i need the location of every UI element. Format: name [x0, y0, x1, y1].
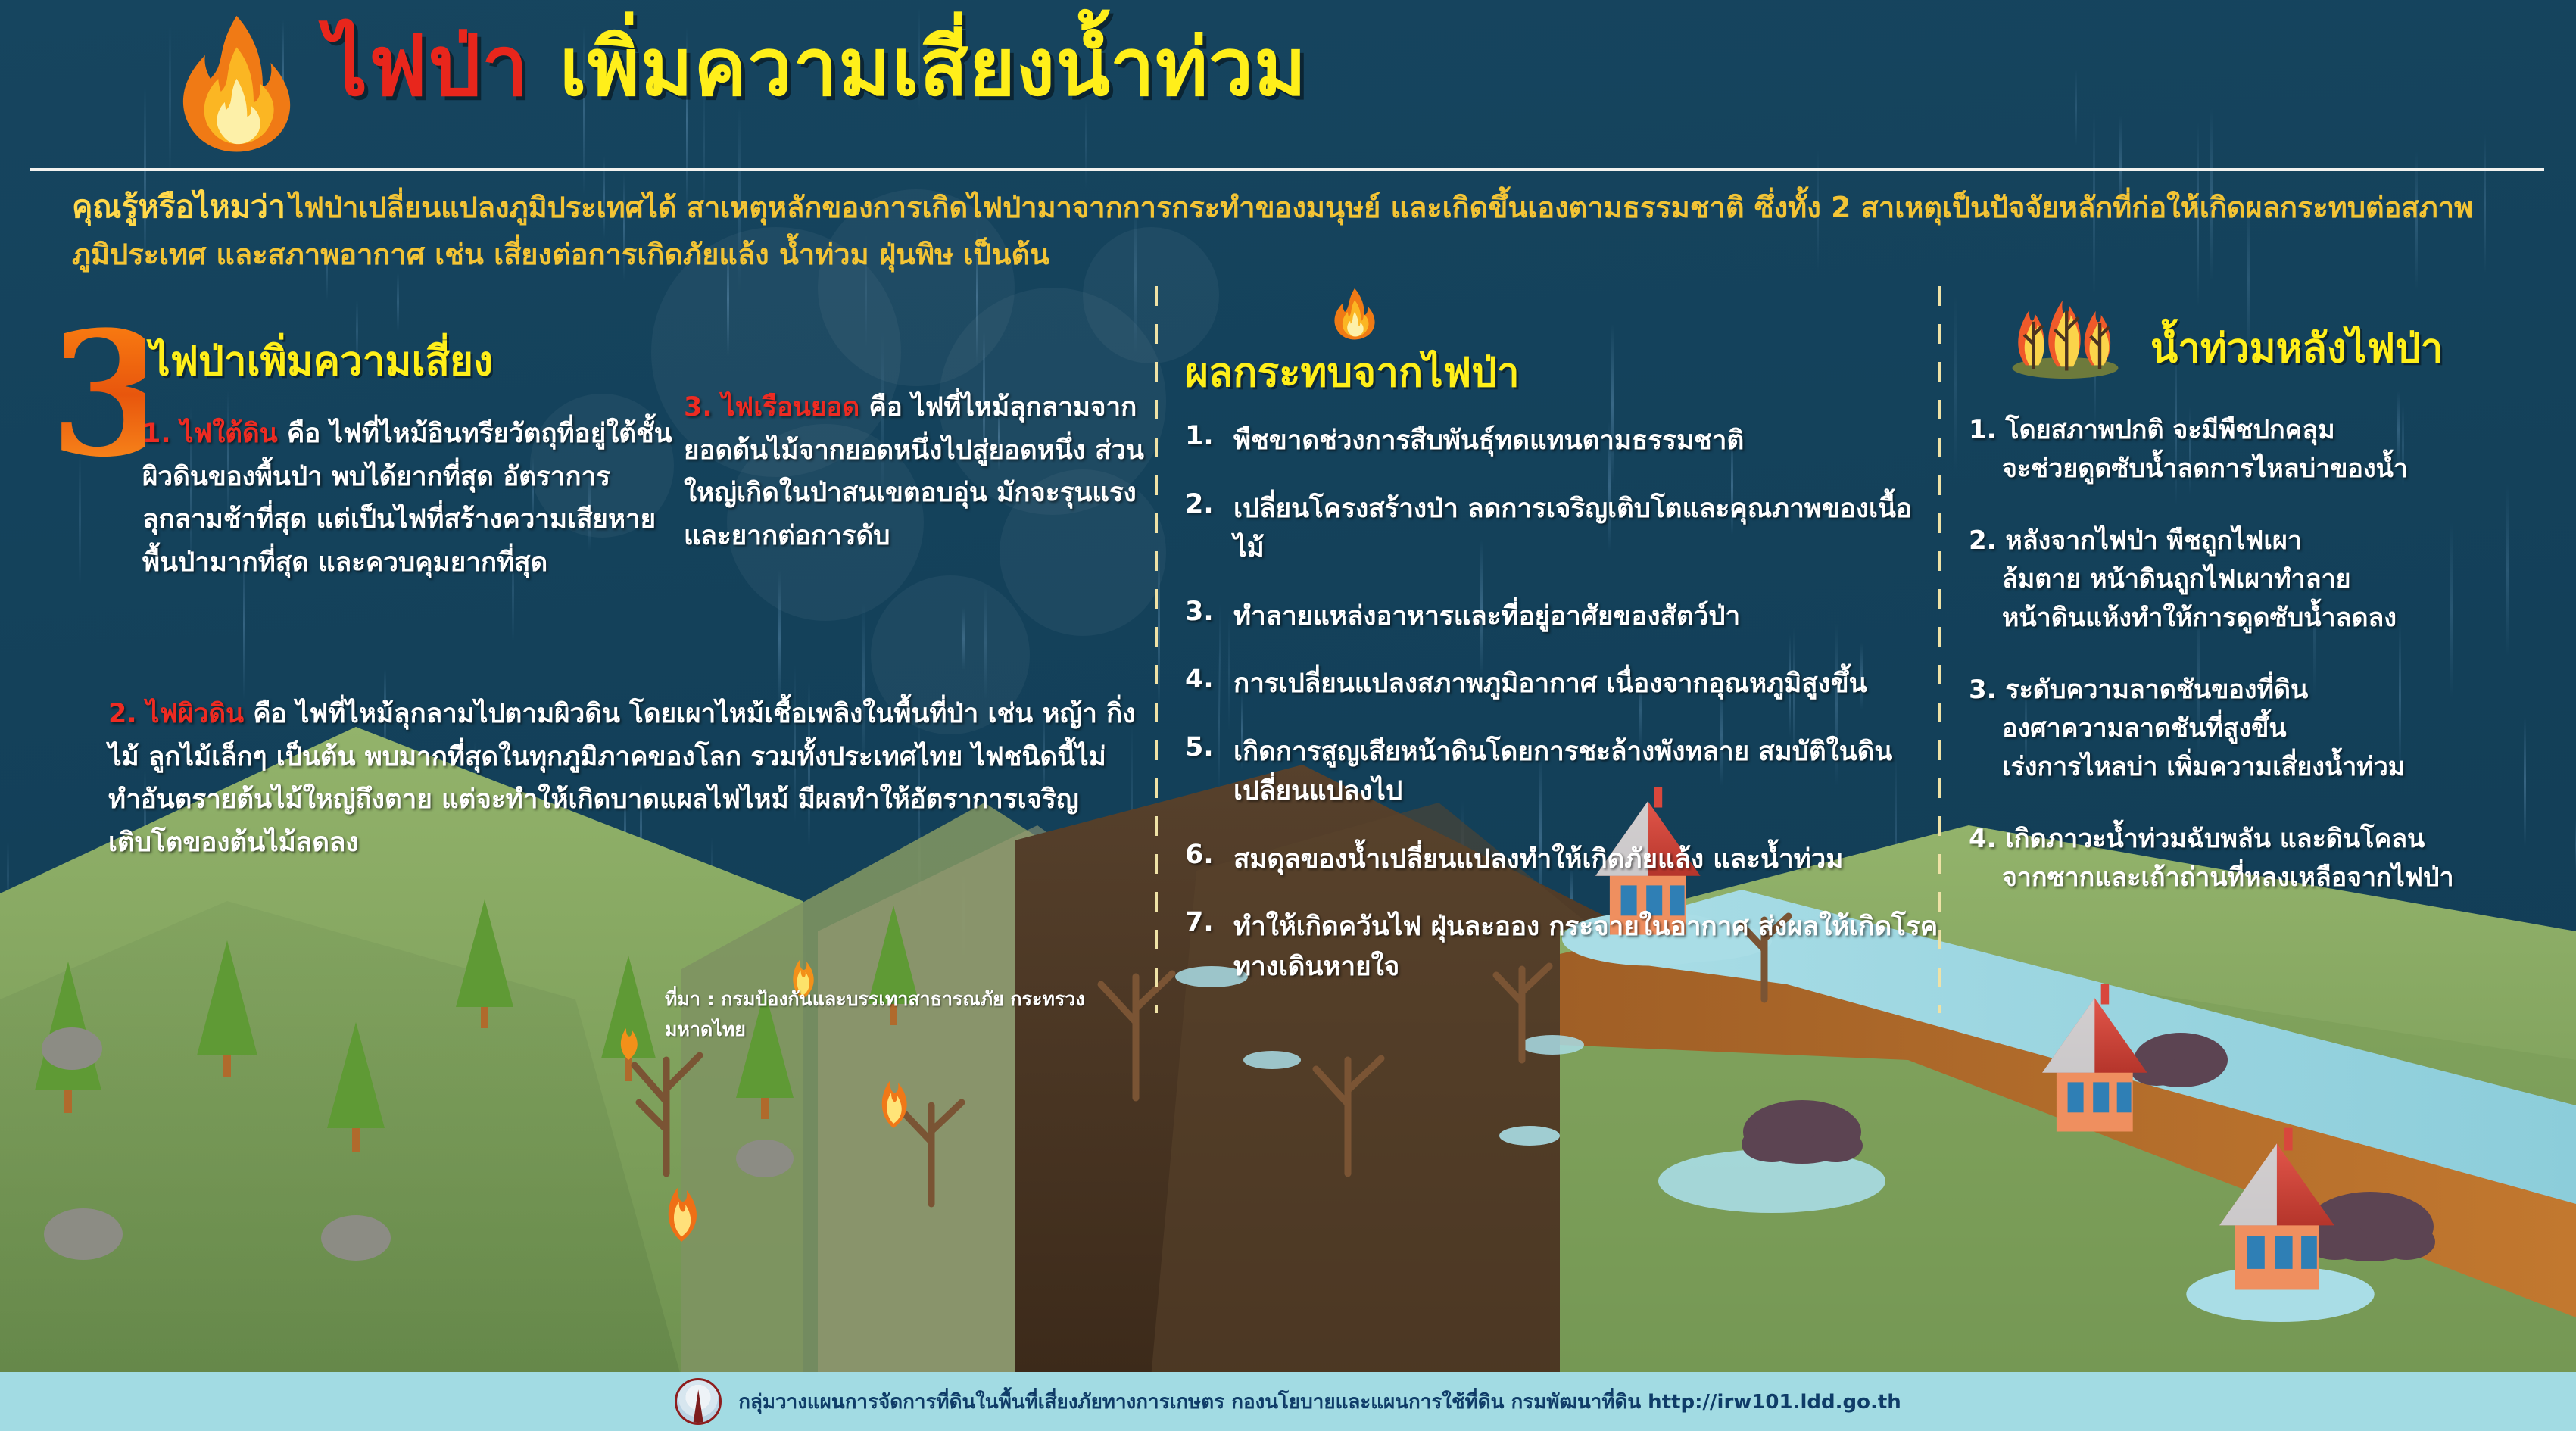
big-number-three: 3: [42, 314, 145, 477]
impact-4-text: การเปลี่ยนแปลงสภาพภูมิอากาศ เนื่องจากอุณ…: [1233, 664, 1867, 704]
impact-5-num: 5.: [1185, 732, 1220, 812]
flood-2-line3: หน้าดินแห้งทำให้การดูดซับน้ำลดลง: [1969, 599, 2576, 638]
column-divider-1: [1155, 286, 1158, 1013]
list-item: 1. โดยสภาพปกติ จะมีพืชปกคลุม จะช่วยดูดซั…: [1969, 411, 2576, 488]
impact-list: 1.พืชขาดช่วงการสืบพันธุ์ทดแทนตามธรรมชาติ…: [1185, 421, 1942, 1015]
poster-header: ไฟป่า เพิ่มความเสี่ยงน้ำท่วม: [0, 0, 2576, 174]
burning-trees-icon: [1999, 273, 2132, 379]
flood-3-line2: องศาความลาดชันที่สูงขึ้น: [1969, 709, 2576, 748]
impact-2-num: 2.: [1185, 489, 1220, 569]
flood-1-line1: 1. โดยสภาพปกติ จะมีพืชปกคลุม: [1969, 411, 2576, 450]
impact-2-text: เปลี่ยนโครงสร้างป่า ลดการเจริญเติบโตและค…: [1233, 489, 1942, 569]
flood-3-line1: 3. ระดับความลาดชันของที่ดิน: [1969, 671, 2576, 709]
impact-1-text: พืชขาดช่วงการสืบพันธุ์ทดแทนตามธรรมชาติ: [1233, 421, 1744, 461]
impact-6-text: สมดุลของน้ำเปลี่ยนแปลงทำให้เกิดภัยแล้ง แ…: [1233, 840, 1843, 880]
list-item: 1.พืชขาดช่วงการสืบพันธุ์ทดแทนตามธรรมชาติ: [1185, 421, 1942, 461]
flood-3-line3: เร่งการไหลบ่า เพิ่มความเสี่ยงน้ำท่วม: [1969, 748, 2576, 787]
impact-5-text: เกิดการสูญเสียหน้าดินโดยการชะล้างพังทลาย…: [1233, 732, 1942, 812]
fire-type-1-label: 1. ไฟใต้ดิน: [142, 419, 278, 449]
impact-7-num: 7.: [1185, 907, 1220, 987]
impact-4-num: 4.: [1185, 664, 1220, 704]
list-item: 3. ระดับความลาดชันของที่ดิน องศาความลาดช…: [1969, 671, 2576, 787]
fire-type-2-text: คือ ไฟที่ไหม้ลุกลามไปตามผิวดิน โดยเผาไหม…: [108, 699, 1135, 858]
impact-3-num: 3.: [1185, 597, 1220, 637]
list-item: 4. เกิดภาวะน้ำท่วมฉับพลัน และดินโคลน จาก…: [1969, 820, 2576, 897]
column1-heading: ไฟป่าเพิ่มความเสี่ยง: [150, 329, 493, 393]
flood-list: 1. โดยสภาพปกติ จะมีพืชปกคลุม จะช่วยดูดซั…: [1969, 411, 2576, 931]
list-item: 2.เปลี่ยนโครงสร้างป่า ลดการเจริญเติบโตแล…: [1185, 489, 1942, 569]
government-seal-icon: [675, 1378, 722, 1425]
intro-paragraph: คุณรู้หรือไหมว่า ไฟป่าเปลี่ยนแปลงภูมิประ…: [72, 182, 2525, 279]
flood-2-line2: ล้มตาย หน้าดินถูกไฟเผาทำลาย: [1969, 560, 2576, 599]
column3-heading: น้ำท่วมหลังไฟป่า: [2150, 316, 2443, 380]
footer-credit: กลุ่มวางแผนการจัดการที่ดินในพื้นที่เสี่ย…: [738, 1386, 1901, 1417]
fire-type-item-2: 2. ไฟผิวดิน คือ ไฟที่ไหม้ลุกลามไปตามผิวด…: [108, 693, 1138, 865]
fire-type-item-3: 3. ไฟเรือนยอด คือ ไฟที่ไหม้ลุกลามจากยอดต…: [684, 386, 1153, 558]
list-item: 4.การเปลี่ยนแปลงสภาพภูมิอากาศ เนื่องจากอ…: [1185, 664, 1942, 704]
header-divider: [30, 168, 2544, 171]
footer-bar: กลุ่มวางแผนการจัดการที่ดินในพื้นที่เสี่ย…: [0, 1372, 2576, 1431]
impact-3-text: ทำลายแหล่งอาหารและที่อยู่อาศัยของสัตว์ป่…: [1233, 597, 1740, 637]
infographic-poster: ไฟป่า เพิ่มความเสี่ยงน้ำท่วม คุณรู้หรือไ…: [0, 0, 2576, 1431]
flood-4-line1: 4. เกิดภาวะน้ำท่วมฉับพลัน และดินโคลน: [1969, 820, 2576, 859]
intro-lead: คุณรู้หรือไหมว่า: [72, 189, 285, 225]
fire-type-item-1: 1. ไฟใต้ดิน คือ ไฟที่ไหม้อินทรียวัตถุที่…: [142, 413, 672, 585]
impact-6-num: 6.: [1185, 840, 1220, 880]
list-item: 3.ทำลายแหล่งอาหารและที่อยู่อาศัยของสัตว์…: [1185, 597, 1942, 637]
list-item: 6.สมดุลของน้ำเปลี่ยนแปลงทำให้เกิดภัยแล้ง…: [1185, 840, 1942, 880]
intro-body: ไฟป่าเปลี่ยนแปลงภูมิประเทศได้ สาเหตุหลัก…: [72, 191, 2473, 271]
fire-type-2-label: 2. ไฟผิวดิน: [108, 699, 244, 729]
list-item: 7.ทำให้เกิดควันไฟ ฝุ่นละออง กระจายในอากา…: [1185, 907, 1942, 987]
list-item: 5.เกิดการสูญเสียหน้าดินโดยการชะล้างพังทล…: [1185, 732, 1942, 812]
flood-1-line2: จะช่วยดูดซับน้ำลดการไหลบ่าของน้ำ: [1969, 450, 2576, 488]
svg-text:3: 3: [49, 314, 145, 477]
page-title-secondary: เพิ่มความเสี่ยงน้ำท่วม: [560, 26, 1308, 109]
flood-2-line1: 2. หลังจากไฟป่า พืชถูกไฟเผา: [1969, 522, 2576, 560]
fire-type-3-label: 3. ไฟเรือนยอด: [684, 392, 859, 422]
page-title-primary: ไฟป่า: [326, 23, 529, 111]
list-item: 2. หลังจากไฟป่า พืชถูกไฟเผา ล้มตาย หน้าด…: [1969, 522, 2576, 638]
flame-icon: [155, 11, 318, 154]
source-credit: ที่มา : กรมป้องกันและบรรเทาสาธารณภัย กระ…: [665, 984, 1134, 1045]
impact-1-num: 1.: [1185, 421, 1220, 461]
column2-heading: ผลกระทบจากไฟป่า: [1185, 341, 1520, 404]
flood-4-line2: จากซากและเถ้าถ่านที่หลงเหลือจากไฟป่า: [1969, 859, 2576, 897]
impact-7-text: ทำให้เกิดควันไฟ ฝุ่นละออง กระจายในอากาศ …: [1233, 907, 1942, 987]
